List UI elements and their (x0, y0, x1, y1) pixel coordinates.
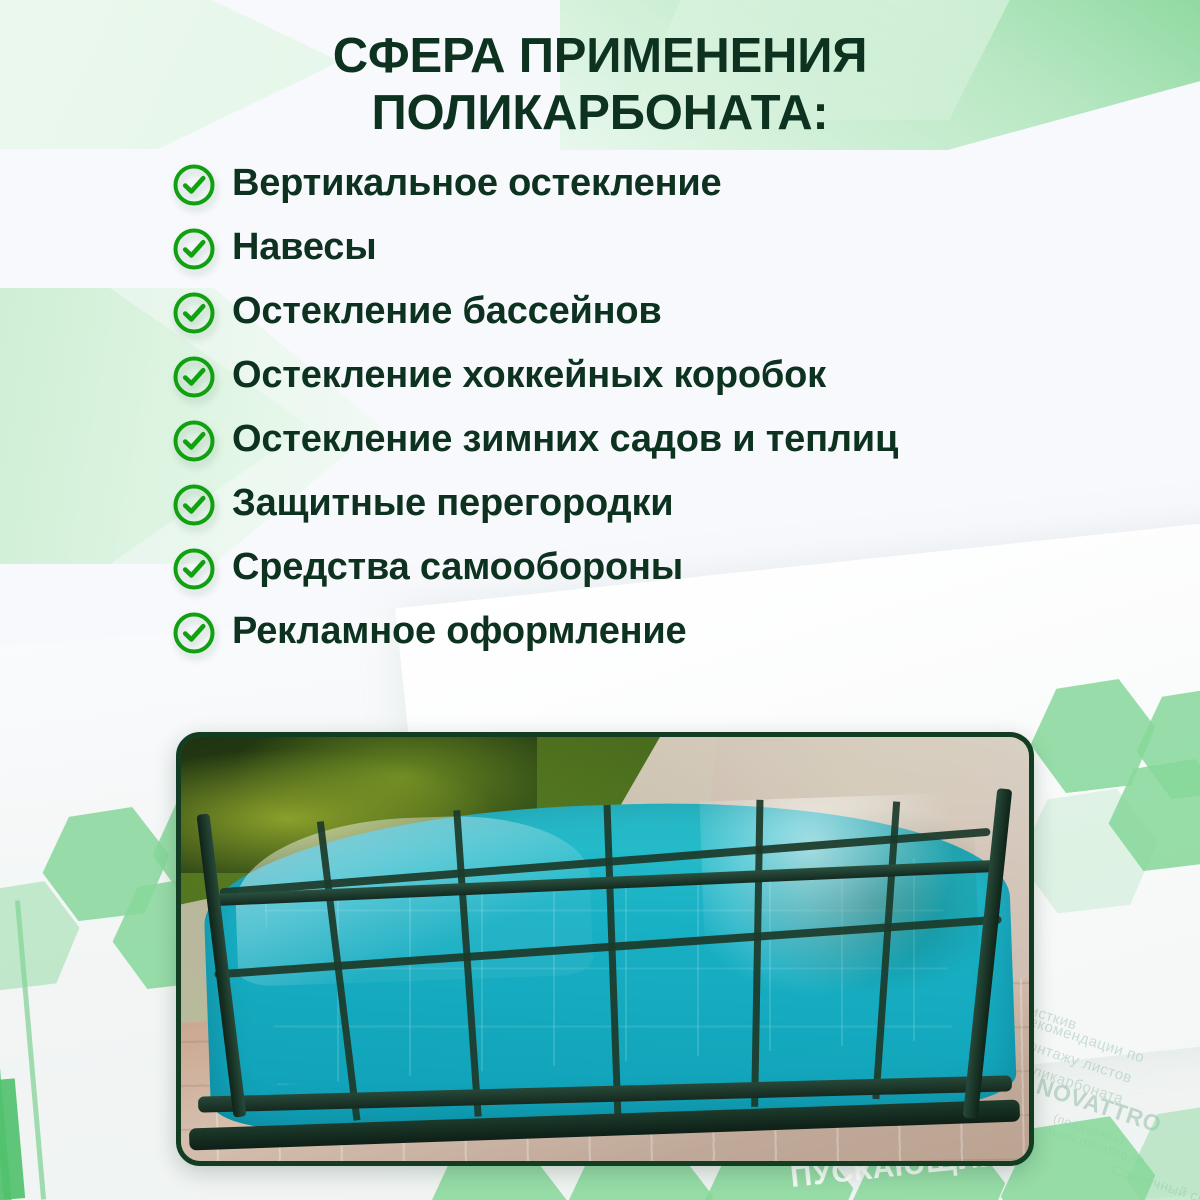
brochure-stripe-1 (0, 880, 12, 1200)
page-title: СФЕРА ПРИМЕНЕНИЯ ПОЛИКАРБОНАТА: (0, 28, 1200, 142)
background-hexagon (1131, 684, 1200, 802)
photo-glass-reflection (700, 792, 981, 1021)
list-item[interactable]: Рекламное оформление (172, 608, 1052, 664)
list-item[interactable]: Защитные перегородки (172, 480, 1052, 536)
background-hexagon (1103, 756, 1200, 874)
background-hexagon (1120, 1099, 1200, 1200)
check-circle-icon (172, 163, 216, 207)
list-item-label: Рекламное оформление (232, 608, 686, 653)
list-item[interactable]: Средства самообороны (172, 544, 1052, 600)
background-hexagon (37, 804, 176, 925)
check-circle-icon (172, 611, 216, 655)
background-hexagon (1025, 676, 1162, 797)
list-item-label: Защитные перегородки (232, 480, 673, 525)
list-item[interactable]: Остекление хоккейных коробок (172, 352, 1052, 408)
list-item-label: Остекление зимних садов и теплиц (232, 416, 898, 461)
brochure-stripe-2 (15, 900, 46, 1199)
brochure-stripe-3 (0, 1078, 25, 1200)
list-item-label: Вертикальное остекление (232, 160, 721, 205)
list-item-label: Остекление бассейнов (232, 288, 662, 333)
poster-root: листкив рекомендации по монтажу листов п… (0, 0, 1200, 1200)
list-item[interactable]: Остекление бассейнов (172, 288, 1052, 344)
list-item[interactable]: Вертикальное остекление (172, 160, 1052, 216)
background-text-line2: рекомендации по (1019, 1010, 1147, 1066)
pool-enclosure-photo (176, 732, 1034, 1166)
check-circle-icon (172, 291, 216, 335)
background-brand-novattro: NOVATTRO (1033, 1073, 1165, 1139)
background-text-subtitle: (поддержка) (1052, 1111, 1127, 1147)
check-circle-icon (172, 547, 216, 591)
check-circle-icon (172, 483, 216, 527)
list-item-label: Остекление хоккейных коробок (232, 352, 826, 397)
photo-inner (181, 737, 1029, 1161)
check-circle-icon (172, 227, 216, 271)
background-text-site: www.novattro.ru (1046, 1123, 1146, 1168)
check-circle-icon (172, 355, 216, 399)
list-item-label: Средства самообороны (232, 544, 683, 589)
background-hexagon (1012, 785, 1164, 917)
list-item-label: Навесы (232, 224, 376, 269)
background-text-note: Солнечный св (1110, 1161, 1200, 1200)
list-item[interactable]: Навесы (172, 224, 1052, 280)
check-circle-icon (172, 419, 216, 463)
background-hexagon (0, 878, 85, 994)
list-item[interactable]: Остекление зимних садов и теплиц (172, 416, 1052, 472)
application-checklist: Вертикальное остекление Навесы Остеклени… (172, 160, 1052, 672)
